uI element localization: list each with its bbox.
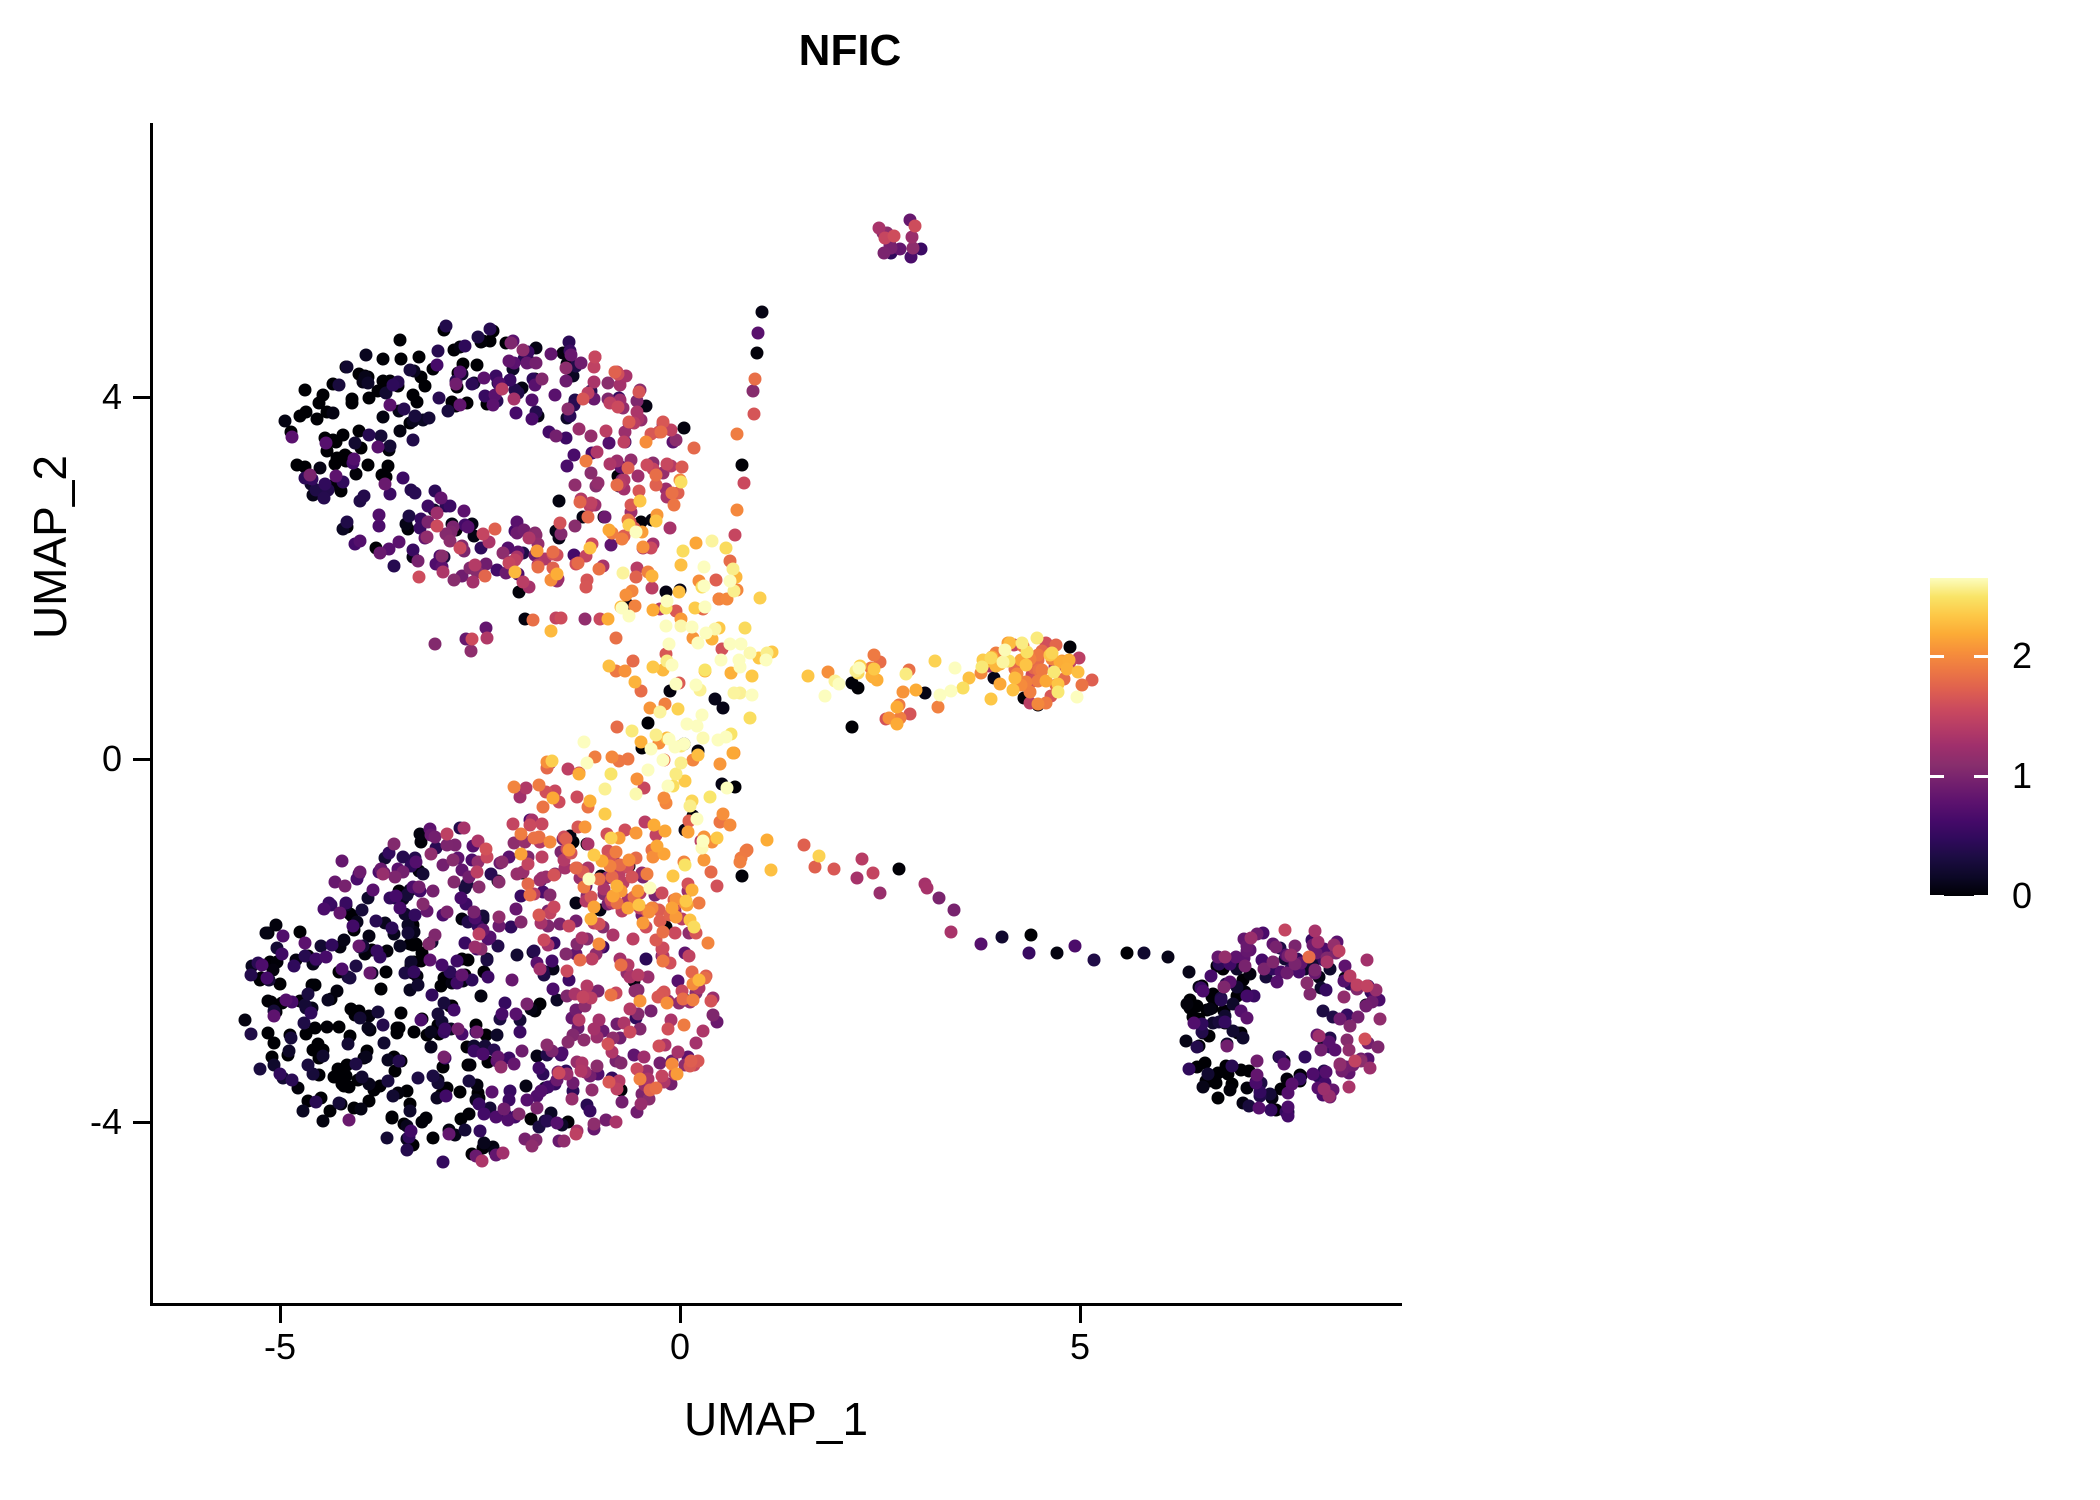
y-tick-mark [133, 758, 150, 761]
scatter-point [1022, 946, 1035, 959]
scatter-point [679, 895, 692, 908]
scatter-point [478, 1136, 491, 1149]
scatter-point [464, 644, 477, 657]
scatter-point [1120, 946, 1133, 959]
scatter-point [394, 424, 407, 437]
scatter-point [520, 1080, 533, 1093]
scatter-point [244, 969, 257, 982]
scatter-point [647, 660, 660, 673]
scatter-point [615, 533, 628, 546]
scatter-point [393, 1022, 406, 1035]
scatter-point [801, 669, 814, 682]
scatter-point [559, 948, 572, 961]
scatter-point [663, 522, 676, 535]
scatter-point [515, 915, 528, 928]
scatter-point [284, 1031, 297, 1044]
scatter-point [554, 517, 567, 530]
x-tick-label: 5 [1020, 1326, 1140, 1368]
scatter-point [335, 962, 348, 975]
scatter-point [819, 690, 832, 703]
scatter-point [450, 377, 463, 390]
scatter-point [371, 440, 384, 453]
scatter-point [275, 948, 288, 961]
scatter-point [546, 954, 559, 967]
scatter-point [428, 638, 441, 651]
scatter-point [350, 1058, 363, 1071]
scatter-point [639, 952, 652, 965]
scatter-point [1031, 697, 1044, 710]
scatter-point [716, 807, 729, 820]
scatter-point [696, 709, 709, 722]
scatter-point [451, 954, 464, 967]
scatter-point [550, 1116, 563, 1129]
scatter-point [1020, 658, 1033, 671]
scatter-point [348, 452, 361, 465]
scatter-point [1318, 1083, 1331, 1096]
scatter-point [584, 912, 597, 925]
scatter-point [985, 692, 998, 705]
scatter-point [1048, 665, 1061, 678]
colorbar-tick-mark [1930, 655, 1944, 658]
scatter-point [577, 736, 590, 749]
scatter-point [479, 842, 492, 855]
scatter-point [279, 415, 292, 428]
scatter-point [890, 717, 903, 730]
scatter-point [318, 478, 331, 491]
scatter-point [603, 524, 616, 537]
scatter-point [425, 847, 438, 860]
scatter-point [1360, 979, 1373, 992]
scatter-point [1278, 923, 1291, 936]
scatter-point [493, 875, 506, 888]
scatter-point [642, 716, 655, 729]
scatter-point [995, 931, 1008, 944]
scatter-point [318, 902, 331, 915]
scatter-point [480, 954, 493, 967]
scatter-point [544, 625, 557, 638]
scatter-point [873, 886, 886, 899]
scatter-point [370, 914, 383, 927]
scatter-point [405, 1124, 418, 1137]
scatter-point [520, 781, 533, 794]
scatter-point [397, 402, 410, 415]
scatter-point [490, 1028, 503, 1041]
scatter-point [425, 988, 438, 1001]
scatter-point [552, 495, 565, 508]
x-tick-mark [1079, 1306, 1082, 1323]
scatter-point [1006, 684, 1019, 697]
scatter-point [349, 468, 362, 481]
scatter-point [929, 655, 942, 668]
scatter-point [686, 994, 699, 1007]
scatter-point [579, 455, 592, 468]
scatter-point [565, 1092, 578, 1105]
scatter-point [455, 892, 468, 905]
scatter-point [383, 398, 396, 411]
scatter-point [1051, 946, 1064, 959]
scatter-point [643, 882, 656, 895]
scatter-point [592, 937, 605, 950]
scatter-point [418, 380, 431, 393]
scatter-point [696, 732, 709, 745]
scatter-point [751, 327, 764, 340]
scatter-point [906, 231, 919, 244]
scatter-point [528, 945, 541, 958]
scatter-point [388, 870, 401, 883]
scatter-point [515, 848, 528, 861]
scatter-point [361, 377, 374, 390]
scatter-point [575, 932, 588, 945]
scatter-point [472, 331, 485, 344]
scatter-point [765, 863, 778, 876]
scatter-point [287, 959, 300, 972]
scatter-point [485, 1086, 498, 1099]
scatter-point [1046, 647, 1059, 660]
scatter-point [416, 898, 429, 911]
scatter-point [1197, 1081, 1210, 1094]
scatter-point [507, 1058, 520, 1071]
scatter-point [279, 993, 292, 1006]
scatter-point [738, 476, 751, 489]
scatter-point [387, 378, 400, 391]
scatter-point [663, 638, 676, 651]
scatter-point [473, 881, 486, 894]
scatter-point [372, 509, 385, 522]
scatter-point [536, 818, 549, 831]
scatter-point [588, 351, 601, 364]
scatter-point [656, 954, 669, 967]
scatter-point [578, 821, 591, 834]
scatter-point [1252, 1101, 1265, 1114]
scatter-point [363, 429, 376, 442]
scatter-point [469, 558, 482, 571]
scatter-point [638, 1050, 651, 1063]
scatter-point [609, 846, 622, 859]
scatter-point [723, 575, 736, 588]
scatter-point [626, 870, 639, 883]
scatter-point [345, 393, 358, 406]
scatter-point [346, 920, 359, 933]
scatter-point [495, 1060, 508, 1073]
scatter-point [531, 561, 544, 574]
colorbar-tick-mark [1930, 895, 1944, 898]
scatter-point [1333, 944, 1346, 957]
scatter-point [1072, 666, 1085, 679]
scatter-point [867, 867, 880, 880]
scatter-point [434, 492, 447, 505]
scatter-point [1197, 984, 1210, 997]
scatter-point [433, 391, 446, 404]
scatter-panel [152, 125, 1400, 1303]
scatter-point [756, 306, 769, 319]
scatter-point [931, 700, 944, 713]
scatter-point [615, 1057, 628, 1070]
x-tick-label: 0 [620, 1326, 740, 1368]
scatter-point [321, 993, 334, 1006]
scatter-point [1071, 691, 1084, 704]
scatter-point [633, 994, 646, 1007]
scatter-point [743, 712, 756, 725]
scatter-point [833, 677, 846, 690]
scatter-point [734, 638, 747, 651]
scatter-point [465, 377, 478, 390]
scatter-point [408, 1025, 421, 1038]
scatter-point [744, 647, 757, 660]
scatter-point [1319, 984, 1332, 997]
scatter-point [657, 792, 670, 805]
scatter-point [514, 827, 527, 840]
scatter-point [671, 702, 684, 715]
scatter-point [431, 520, 444, 533]
scatter-point [469, 940, 482, 953]
scatter-point [692, 636, 705, 649]
scatter-point [520, 997, 533, 1010]
scatter-point [634, 1097, 647, 1110]
scatter-point [611, 880, 624, 893]
scatter-point [1285, 1077, 1298, 1090]
scatter-point [526, 394, 539, 407]
scatter-point [827, 863, 840, 876]
scatter-point [612, 400, 625, 413]
scatter-point [547, 900, 560, 913]
scatter-point [350, 959, 363, 972]
scatter-point [647, 818, 660, 831]
scatter-point [352, 939, 365, 952]
colorbar-tick-label: 1 [2012, 755, 2032, 797]
scatter-point [341, 1037, 354, 1050]
scatter-point [1180, 997, 1193, 1010]
scatter-point [1205, 969, 1218, 982]
scatter-point [1182, 1062, 1195, 1075]
scatter-point [668, 498, 681, 511]
scatter-point [661, 780, 674, 793]
scatter-point [489, 522, 502, 535]
scatter-point [631, 470, 644, 483]
scatter-point [618, 664, 631, 677]
scatter-point [510, 1007, 523, 1020]
scatter-point [549, 430, 562, 443]
scatter-point [896, 686, 909, 699]
colorbar-tick-label: 0 [2012, 875, 2032, 917]
scatter-point [505, 337, 518, 350]
scatter-point [676, 544, 689, 557]
scatter-point [1343, 1080, 1356, 1093]
scatter-point [508, 566, 521, 579]
scatter-point [527, 831, 540, 844]
scatter-point [1202, 1068, 1215, 1081]
scatter-point [1138, 946, 1151, 959]
scatter-point [505, 974, 518, 987]
scatter-point [341, 360, 354, 373]
scatter-point [611, 479, 624, 492]
scatter-point [380, 1131, 393, 1144]
scatter-point [1312, 936, 1325, 949]
scatter-point [868, 648, 881, 661]
scatter-point [626, 933, 639, 946]
scatter-point [328, 457, 341, 470]
scatter-point [1334, 1059, 1347, 1072]
scatter-point [602, 437, 615, 450]
scatter-point [472, 927, 485, 940]
scatter-point [441, 404, 454, 417]
scatter-point [665, 659, 678, 672]
scatter-point [661, 997, 674, 1010]
scatter-point [426, 885, 439, 898]
scatter-point [530, 357, 543, 370]
scatter-point [600, 424, 613, 437]
scatter-point [748, 408, 761, 421]
scatter-point [1307, 1068, 1320, 1081]
scatter-point [688, 441, 701, 454]
scatter-point [1364, 1061, 1377, 1074]
scatter-point [1162, 951, 1175, 964]
scatter-point [672, 585, 685, 598]
scatter-point [1219, 1015, 1232, 1028]
scatter-point [690, 678, 703, 691]
scatter-point [260, 926, 273, 939]
scatter-point [625, 724, 638, 737]
x-tick-label: -5 [220, 1326, 340, 1368]
scatter-point [653, 1039, 666, 1052]
scatter-point [474, 1124, 487, 1137]
scatter-point [645, 1004, 658, 1017]
scatter-point [1240, 1011, 1253, 1024]
scatter-point [603, 1075, 616, 1088]
scatter-point [1240, 989, 1253, 1002]
scatter-point [1270, 940, 1283, 953]
scatter-point [393, 1054, 406, 1067]
scatter-point [561, 1036, 574, 1049]
scatter-point [1309, 963, 1322, 976]
scatter-point [636, 916, 649, 929]
scatter-point [319, 950, 332, 963]
scatter-point [349, 436, 362, 449]
scatter-point [1348, 1055, 1361, 1068]
scatter-point [623, 415, 636, 428]
scatter-point [387, 837, 400, 850]
scatter-point [710, 574, 723, 587]
scatter-point [1204, 1003, 1217, 1016]
scatter-point [666, 902, 679, 915]
scatter-point [1321, 956, 1334, 969]
scatter-point [309, 1096, 322, 1109]
scatter-point [651, 840, 664, 853]
scatter-point [727, 562, 740, 575]
scatter-point [671, 1068, 684, 1081]
scatter-point [812, 850, 825, 863]
scatter-point [698, 579, 711, 592]
scatter-point [458, 339, 471, 352]
scatter-point [546, 754, 559, 767]
scatter-point [598, 782, 611, 795]
scatter-point [558, 1134, 571, 1147]
scatter-point [487, 398, 500, 411]
scatter-point [633, 386, 646, 399]
scatter-point [560, 964, 573, 977]
scatter-point [374, 982, 387, 995]
scatter-point [668, 927, 681, 940]
scatter-point [692, 973, 705, 986]
scatter-point [1308, 924, 1321, 937]
scatter-point [353, 534, 366, 547]
scatter-point [302, 1058, 315, 1071]
scatter-point [496, 856, 509, 869]
x-axis-title: UMAP_1 [152, 1392, 1400, 1446]
scatter-point [313, 397, 326, 410]
scatter-point [424, 1025, 437, 1038]
scatter-point [1301, 977, 1314, 990]
scatter-point [599, 510, 612, 523]
scatter-point [574, 953, 587, 966]
scatter-point [1360, 954, 1373, 967]
scatter-point [704, 994, 717, 1007]
scatter-point [466, 575, 479, 588]
scatter-point [645, 569, 658, 582]
scatter-point [604, 457, 617, 470]
scatter-point [513, 1026, 526, 1039]
scatter-point [711, 733, 724, 746]
scatter-point [496, 1147, 509, 1160]
scatter-point [343, 1113, 356, 1126]
scatter-point [590, 1059, 603, 1072]
scatter-point [268, 1009, 281, 1022]
scatter-point [909, 220, 922, 233]
scatter-point [573, 496, 586, 509]
scatter-point [727, 747, 740, 760]
scatter-point [1218, 950, 1231, 963]
scatter-point [1298, 1050, 1311, 1063]
scatter-point [453, 1085, 466, 1098]
scatter-point [326, 406, 339, 419]
scatter-point [371, 1005, 384, 1018]
scatter-point [317, 1049, 330, 1062]
scatter-point [470, 866, 483, 879]
scatter-point [381, 1074, 394, 1087]
scatter-point [738, 622, 751, 635]
scatter-point [868, 662, 881, 675]
scatter-point [630, 525, 643, 538]
scatter-point [502, 355, 515, 368]
scatter-point [581, 757, 594, 770]
scatter-point [411, 396, 424, 409]
scatter-point [376, 352, 389, 365]
scatter-point [689, 1037, 702, 1050]
scatter-point [707, 1008, 720, 1021]
scatter-point [435, 550, 448, 563]
scatter-point [1051, 686, 1064, 699]
scatter-point [727, 687, 740, 700]
scatter-point [535, 851, 548, 864]
scatter-point [1008, 672, 1021, 685]
scatter-point [338, 934, 351, 947]
scatter-point [687, 920, 700, 933]
scatter-point [402, 926, 415, 939]
scatter-point [691, 813, 704, 826]
scatter-point [298, 936, 311, 949]
scatter-point [641, 763, 654, 776]
scatter-point [644, 743, 657, 756]
page-title: NFIC [799, 26, 902, 75]
scatter-point [423, 411, 436, 424]
scatter-point [630, 772, 643, 785]
scatter-point [1212, 1092, 1225, 1105]
scatter-point [533, 778, 546, 791]
scatter-point [634, 495, 647, 508]
scatter-point [1285, 948, 1298, 961]
scatter-point [640, 868, 653, 881]
scatter-point [393, 939, 406, 952]
scatter-point [299, 384, 312, 397]
